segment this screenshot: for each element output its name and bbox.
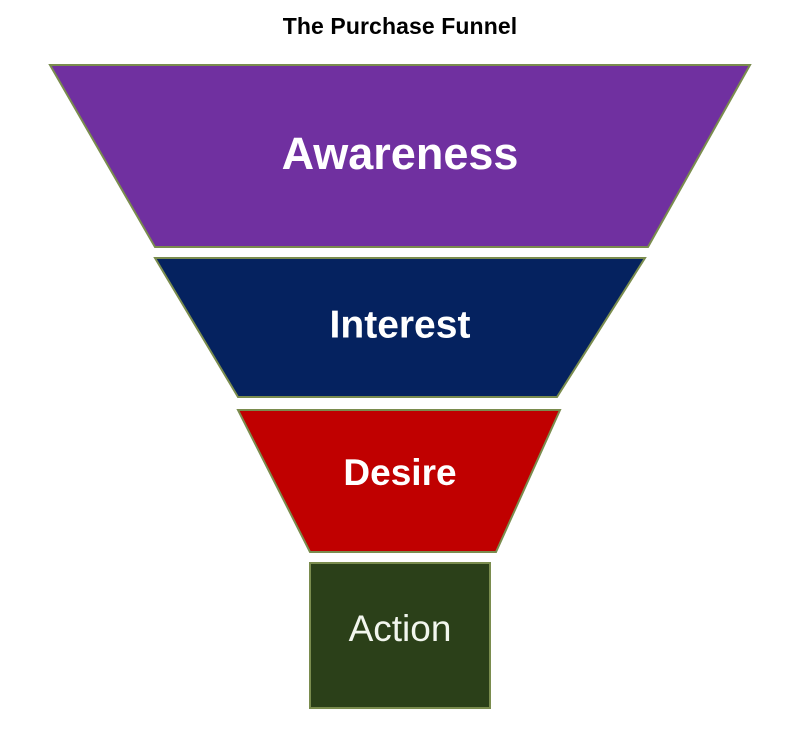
funnel-stage-action[interactable]: Action [310, 563, 490, 708]
funnel-stage-desire[interactable]: Desire [238, 410, 560, 552]
funnel-stage-interest[interactable]: Interest [155, 258, 645, 397]
funnel-segment-action-label: Action [349, 608, 452, 649]
funnel-segment-interest-label: Interest [330, 303, 471, 346]
funnel-stage-awareness[interactable]: Awareness [50, 65, 750, 247]
funnel-segment-awareness-label: Awareness [282, 128, 519, 179]
funnel-chart: Awareness Interest Desire Action [0, 0, 800, 732]
funnel-segment-desire-label: Desire [343, 452, 456, 493]
funnel-diagram: The Purchase Funnel Awareness Interest D… [0, 0, 800, 732]
